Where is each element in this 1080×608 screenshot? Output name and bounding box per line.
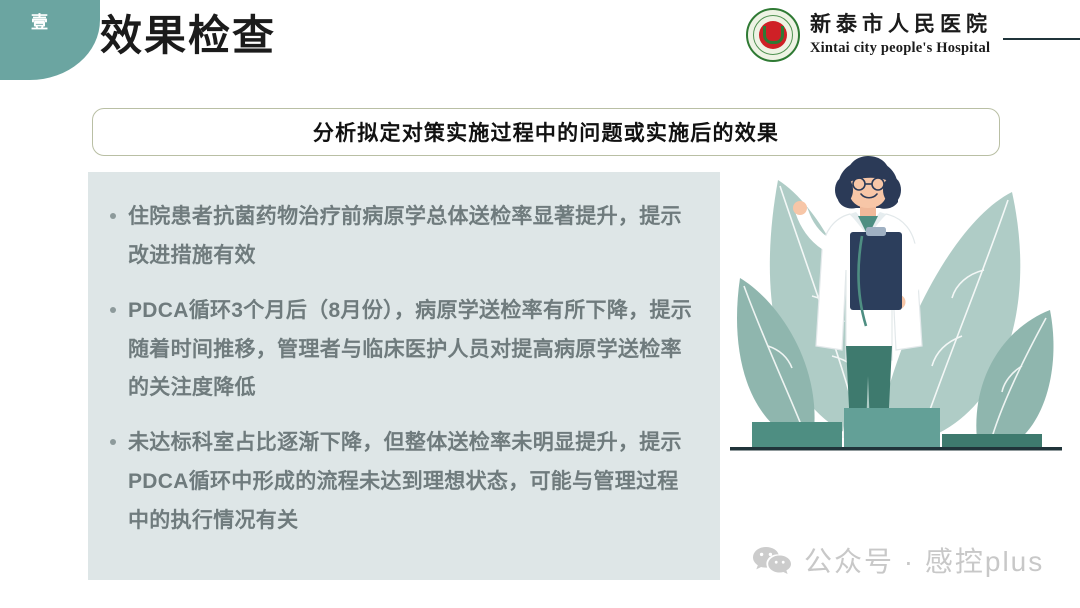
watermark: 公众号 · 感控plus (752, 540, 1044, 580)
bullet-text: PDCA循环3个月后（8月份），病原学送检率有所下降，提示随着时间推移，管理者与… (128, 292, 698, 409)
hospital-logo: 新泰市人民医院 Xintai city people's Hospital (746, 8, 992, 62)
watermark-text: 公众号 · 感控plus (804, 540, 1044, 580)
doctor-on-podium-illustration (716, 150, 1080, 460)
list-item: 未达标科室占比逐渐下降，但整体送检率未明显提升，提示PDCA循环中形成的流程未达… (110, 424, 698, 541)
bullet-dot-icon (110, 213, 116, 219)
bullet-dot-icon (110, 439, 116, 445)
bullet-list: 住院患者抗菌药物治疗前病原学总体送检率显著提升，提示改进措施有效 PDCA循环3… (110, 198, 698, 541)
corner-accent-shape (0, 0, 100, 80)
hospital-name-cn: 新泰市人民医院 (810, 12, 992, 38)
content-panel: 住院患者抗菌药物治疗前病原学总体送检率显著提升，提示改进措施有效 PDCA循环3… (88, 172, 720, 580)
hospital-emblem-icon (746, 8, 800, 62)
bullet-text: 住院患者抗菌药物治疗前病原学总体送检率显著提升，提示改进措施有效 (128, 198, 698, 276)
hospital-logo-text: 新泰市人民医院 Xintai city people's Hospital (810, 12, 992, 57)
wechat-icon (752, 545, 792, 575)
list-item: 住院患者抗菌药物治疗前病原学总体送检率显著提升，提示改进措施有效 (110, 198, 698, 276)
banner-box: 分析拟定对策实施过程中的问题或实施后的效果 (92, 108, 1000, 156)
banner-title: 分析拟定对策实施过程中的问题或实施后的效果 (313, 117, 779, 147)
emblem-core-icon (759, 21, 787, 49)
bullet-dot-icon (110, 307, 116, 313)
slide-canvas: 壹 效果检查 新泰市人民医院 Xintai city people's Hosp… (0, 0, 1080, 608)
section-number: 壹 (22, 14, 58, 33)
bullet-text: 未达标科室占比逐渐下降，但整体送检率未明显提升，提示PDCA循环中形成的流程未达… (128, 424, 698, 541)
list-item: PDCA循环3个月后（8月份），病原学送检率有所下降，提示随着时间推移，管理者与… (110, 292, 698, 409)
page-title: 效果检查 (100, 8, 276, 65)
hospital-name-en: Xintai city people's Hospital (810, 39, 992, 58)
header-divider (1003, 38, 1080, 40)
